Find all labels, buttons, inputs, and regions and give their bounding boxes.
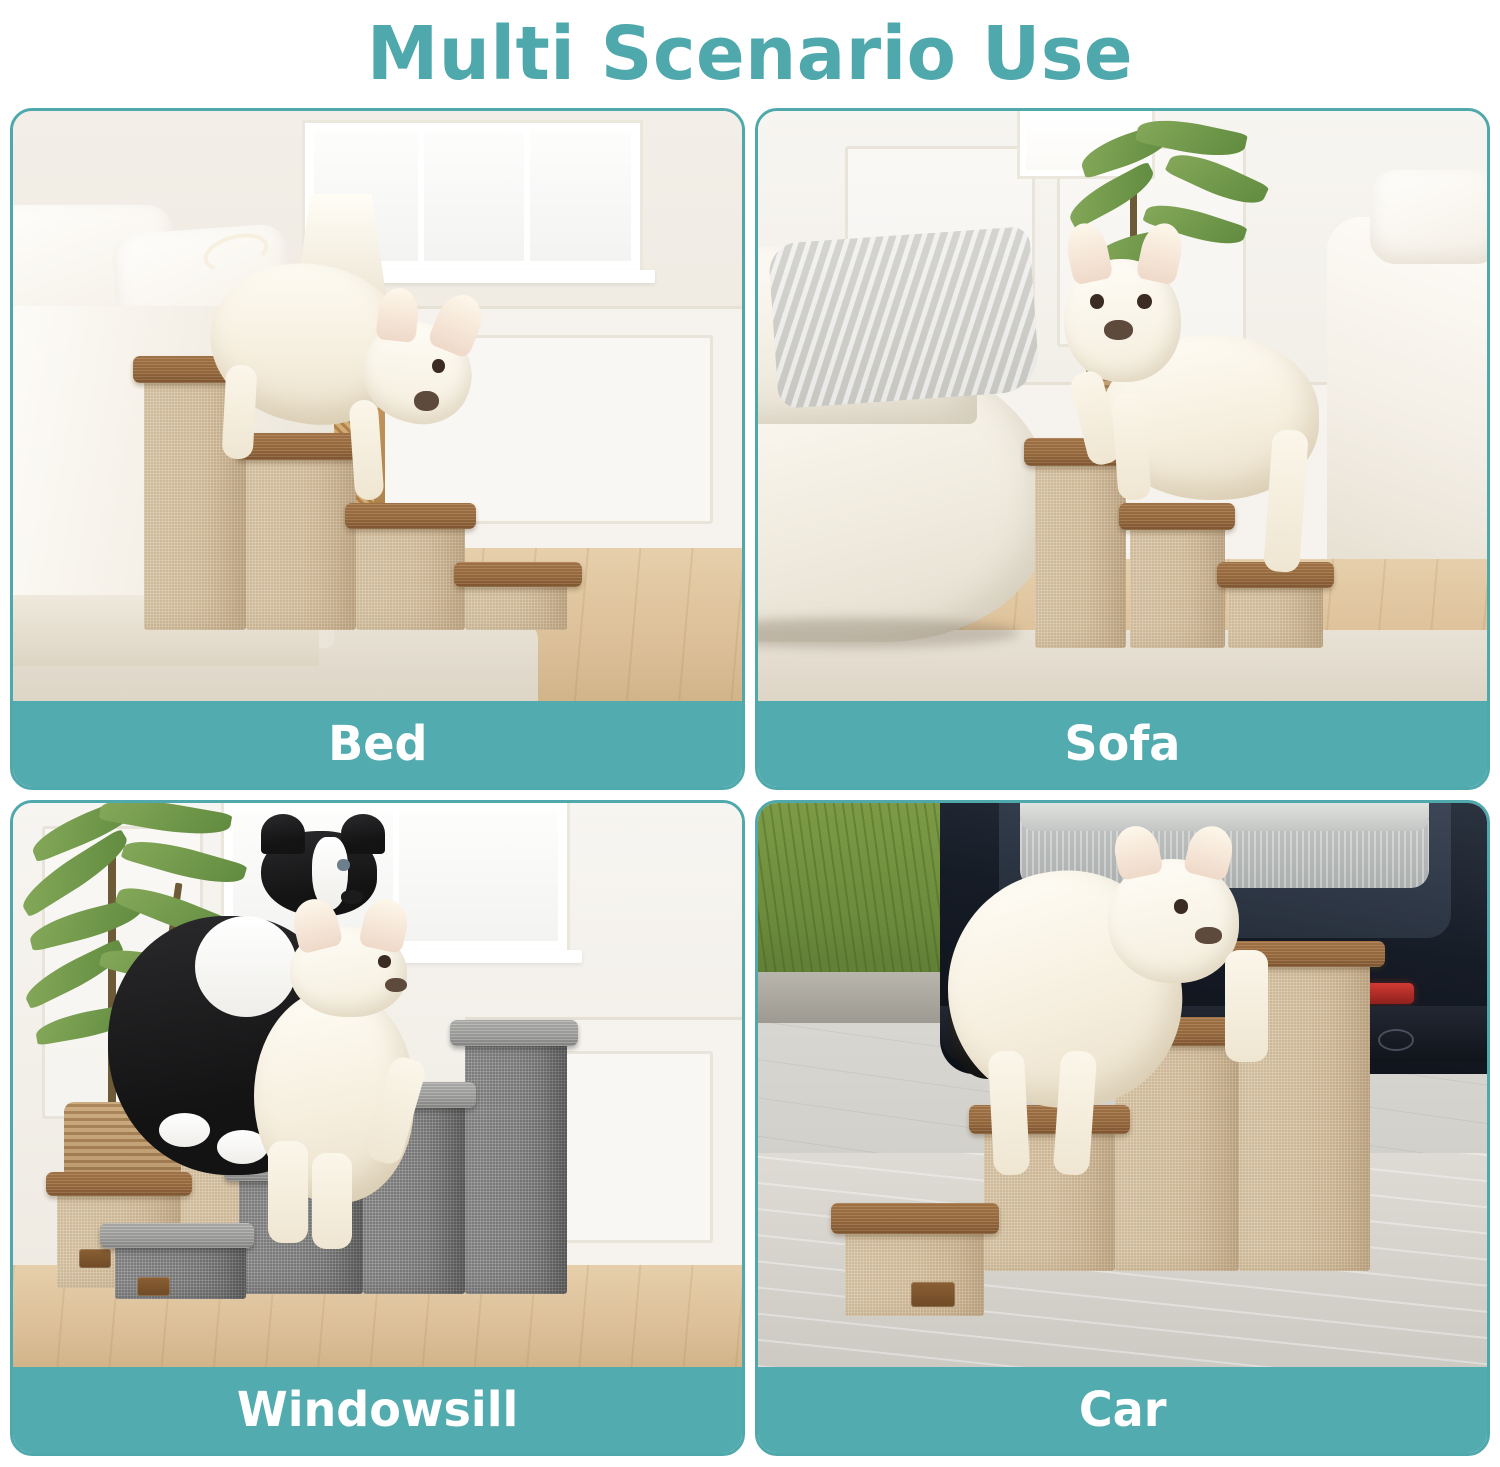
multi-scenario-poster: Multi Scenario Use xyxy=(0,0,1500,1467)
scene-car xyxy=(758,803,1487,1367)
step-tread-2 xyxy=(1119,503,1236,530)
border-collie-ear xyxy=(261,814,305,853)
step-body-4 xyxy=(465,1040,567,1294)
window-pane xyxy=(396,809,561,944)
panel-label-bed: Bed xyxy=(13,701,742,787)
step-body-3 xyxy=(1035,453,1126,648)
window-pane xyxy=(527,129,634,265)
dog-eye xyxy=(378,955,391,967)
scenario-panel-car[interactable]: Car xyxy=(755,800,1490,1456)
scene-sofa xyxy=(758,111,1487,701)
border-collie-nose xyxy=(341,890,363,904)
dog-eye xyxy=(1174,899,1189,914)
poster-title-bar: Multi Scenario Use xyxy=(0,0,1500,108)
scenario-panel-windowsill[interactable]: Windowsill xyxy=(10,800,745,1456)
step-tread-1 xyxy=(454,562,582,587)
pet-bed-bolster xyxy=(1020,803,1428,831)
dog-rear-leg xyxy=(1225,950,1269,1063)
scenario-grid: Bed xyxy=(10,108,1490,1456)
step-body-2 xyxy=(1130,518,1225,648)
border-collie-chest xyxy=(195,916,297,1018)
scene-windowsill xyxy=(13,803,742,1367)
dog-rear-leg xyxy=(222,364,258,460)
brand-logo-tag xyxy=(79,1249,111,1268)
dog-eye xyxy=(1137,294,1152,309)
dog-nose xyxy=(1195,927,1221,944)
dog-nose xyxy=(414,391,439,411)
brand-logo-tag xyxy=(911,1282,955,1307)
dog-front-leg xyxy=(988,1050,1031,1176)
dog-rear-leg xyxy=(312,1153,352,1249)
panel-label-text: Sofa xyxy=(1064,720,1180,768)
page-title: Multi Scenario Use xyxy=(367,17,1133,91)
panel-label-windowsill: Windowsill xyxy=(13,1367,742,1453)
step-body-2 xyxy=(356,518,465,630)
panel-label-text: Windowsill xyxy=(237,1386,518,1434)
step-tread-1 xyxy=(831,1203,999,1233)
step-body-3 xyxy=(246,447,355,630)
brand-logo-tag xyxy=(137,1277,171,1296)
window-pane xyxy=(421,129,528,265)
panel-label-text: Car xyxy=(1079,1386,1167,1434)
dog-nose xyxy=(385,978,407,993)
bumper-reflector xyxy=(1378,1029,1414,1052)
border-collie-paw xyxy=(159,1113,210,1147)
panel-label-text: Bed xyxy=(328,720,427,768)
step-tread-3 xyxy=(235,433,370,460)
step-tread-1 xyxy=(100,1223,253,1248)
step-tread-2 xyxy=(345,503,476,529)
dog-eye xyxy=(432,359,444,373)
panel-label-car: Car xyxy=(758,1367,1487,1453)
scenario-panel-bed[interactable]: Bed xyxy=(10,108,745,790)
border-collie-eye xyxy=(337,859,349,870)
step-tread-4 xyxy=(450,1020,578,1046)
pillow xyxy=(1370,170,1487,264)
scenario-panel-sofa[interactable]: Sofa xyxy=(755,108,1490,790)
dog-rear-leg xyxy=(268,1141,308,1243)
bed-duvet xyxy=(1327,217,1487,571)
scene-bed xyxy=(13,111,742,701)
panel-label-sofa: Sofa xyxy=(758,701,1487,787)
border-collie-ear xyxy=(341,814,385,853)
step-body-1 xyxy=(115,1243,246,1299)
rear-step-tread-2 xyxy=(46,1172,192,1196)
throw-blanket xyxy=(767,226,1040,409)
